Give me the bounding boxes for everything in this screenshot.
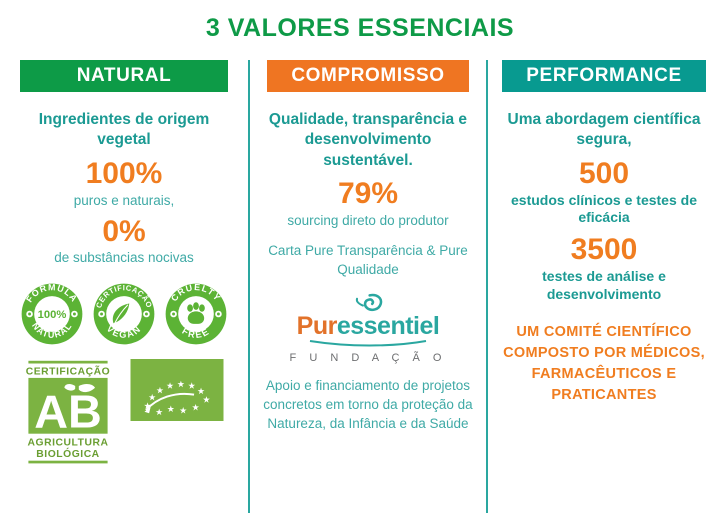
puressentiel-subtitle: F U N D A Ç Ã O: [290, 352, 447, 364]
natural-lead-text: Ingredientes de origem vegetal: [14, 110, 234, 151]
eu-organic-leaf-logo-icon: [129, 359, 225, 421]
puressentiel-fundacao-logo: Puressentiel F U N D A Ç Ã O: [262, 292, 474, 364]
compromisso-stat1-label: sourcing direto do produtor: [262, 212, 474, 229]
formula-natural-badge-icon: FORMULA NATURAL 100%: [19, 281, 85, 347]
compromisso-lead-text: Qualidade, transparência e desenvolvimen…: [262, 110, 474, 171]
natural-stat1-value: 100%: [14, 157, 234, 191]
column-performance: PERFORMANCE Uma abordagem científica seg…: [486, 60, 720, 513]
page-title: 3 VALORES ESSENCIAIS: [0, 14, 720, 43]
compromisso-charter-text: Carta Pure Transparência & Pure Qualidad…: [262, 241, 474, 279]
column-compromisso: COMPROMISSO Qualidade, transparência e d…: [248, 60, 486, 513]
performance-stat1-value: 500: [498, 157, 710, 191]
column-body-compromisso: Qualidade, transparência e desenvolvimen…: [262, 92, 474, 433]
performance-stat1-label: estudos clínicos e testes de eficácia: [498, 192, 710, 228]
natural-stat1-label: puros e naturais,: [14, 192, 234, 209]
puressentiel-word-part1: Pur: [297, 312, 337, 340]
compromisso-stat1-value: 79%: [262, 177, 474, 211]
ab-agriculture-biologique-logo-icon: CERTIFICAÇÃO AB AGRICULTURA BIOLÓGICA: [23, 359, 113, 465]
svg-text:BIOLÓGICA: BIOLÓGICA: [36, 447, 99, 460]
svg-text:AB: AB: [34, 385, 102, 437]
column-body-natural: Ingredientes de origem vegetal 100% puro…: [14, 92, 234, 465]
svg-text:CERTIFICAÇÃO: CERTIFICAÇÃO: [26, 364, 111, 377]
columns-container: NATURAL Ingredientes de origem vegetal 1…: [0, 60, 720, 513]
natural-stat2-value: 0%: [14, 215, 234, 249]
infographic-page: 3 VALORES ESSENCIAIS NATURAL Ingrediente…: [0, 0, 720, 513]
puressentiel-swirl-icon: [351, 292, 385, 314]
performance-stat2-label: testes de análise e desenvolvimento: [498, 268, 710, 304]
column-header-compromisso: COMPROMISSO: [267, 60, 469, 92]
certification-badges: FORMULA NATURAL 100%: [14, 281, 234, 347]
performance-lead-text: Uma abordagem científica segura,: [498, 110, 710, 151]
performance-footer-text: UM COMITÉ CIENTÍFICO COMPOSTO POR MÉDICO…: [498, 322, 710, 406]
svg-text:AGRICULTURA: AGRICULTURA: [28, 437, 109, 448]
puressentiel-underline-icon: [308, 339, 428, 347]
compromisso-footer-text: Apoio e financiamento de projetos concre…: [262, 376, 474, 433]
puressentiel-wordmark: Puressentiel: [297, 314, 440, 339]
column-header-performance: PERFORMANCE: [502, 60, 706, 92]
natural-stat2-label: de substâncias nocivas: [14, 249, 234, 266]
svg-text:100%: 100%: [38, 309, 67, 321]
organic-logos: CERTIFICAÇÃO AB AGRICULTURA BIOLÓGICA: [14, 359, 234, 465]
column-body-performance: Uma abordagem científica segura, 500 est…: [498, 92, 710, 406]
column-header-natural: NATURAL: [20, 60, 228, 92]
certificacao-vegan-badge-icon: CERTIFICAÇÃO VEGAN: [91, 281, 157, 347]
cruelty-free-badge-icon: CRUELTY FREE: [163, 281, 229, 347]
performance-stat2-value: 3500: [498, 233, 710, 267]
puressentiel-word-part2: essentiel: [337, 312, 440, 340]
column-natural: NATURAL Ingredientes de origem vegetal 1…: [0, 60, 248, 513]
